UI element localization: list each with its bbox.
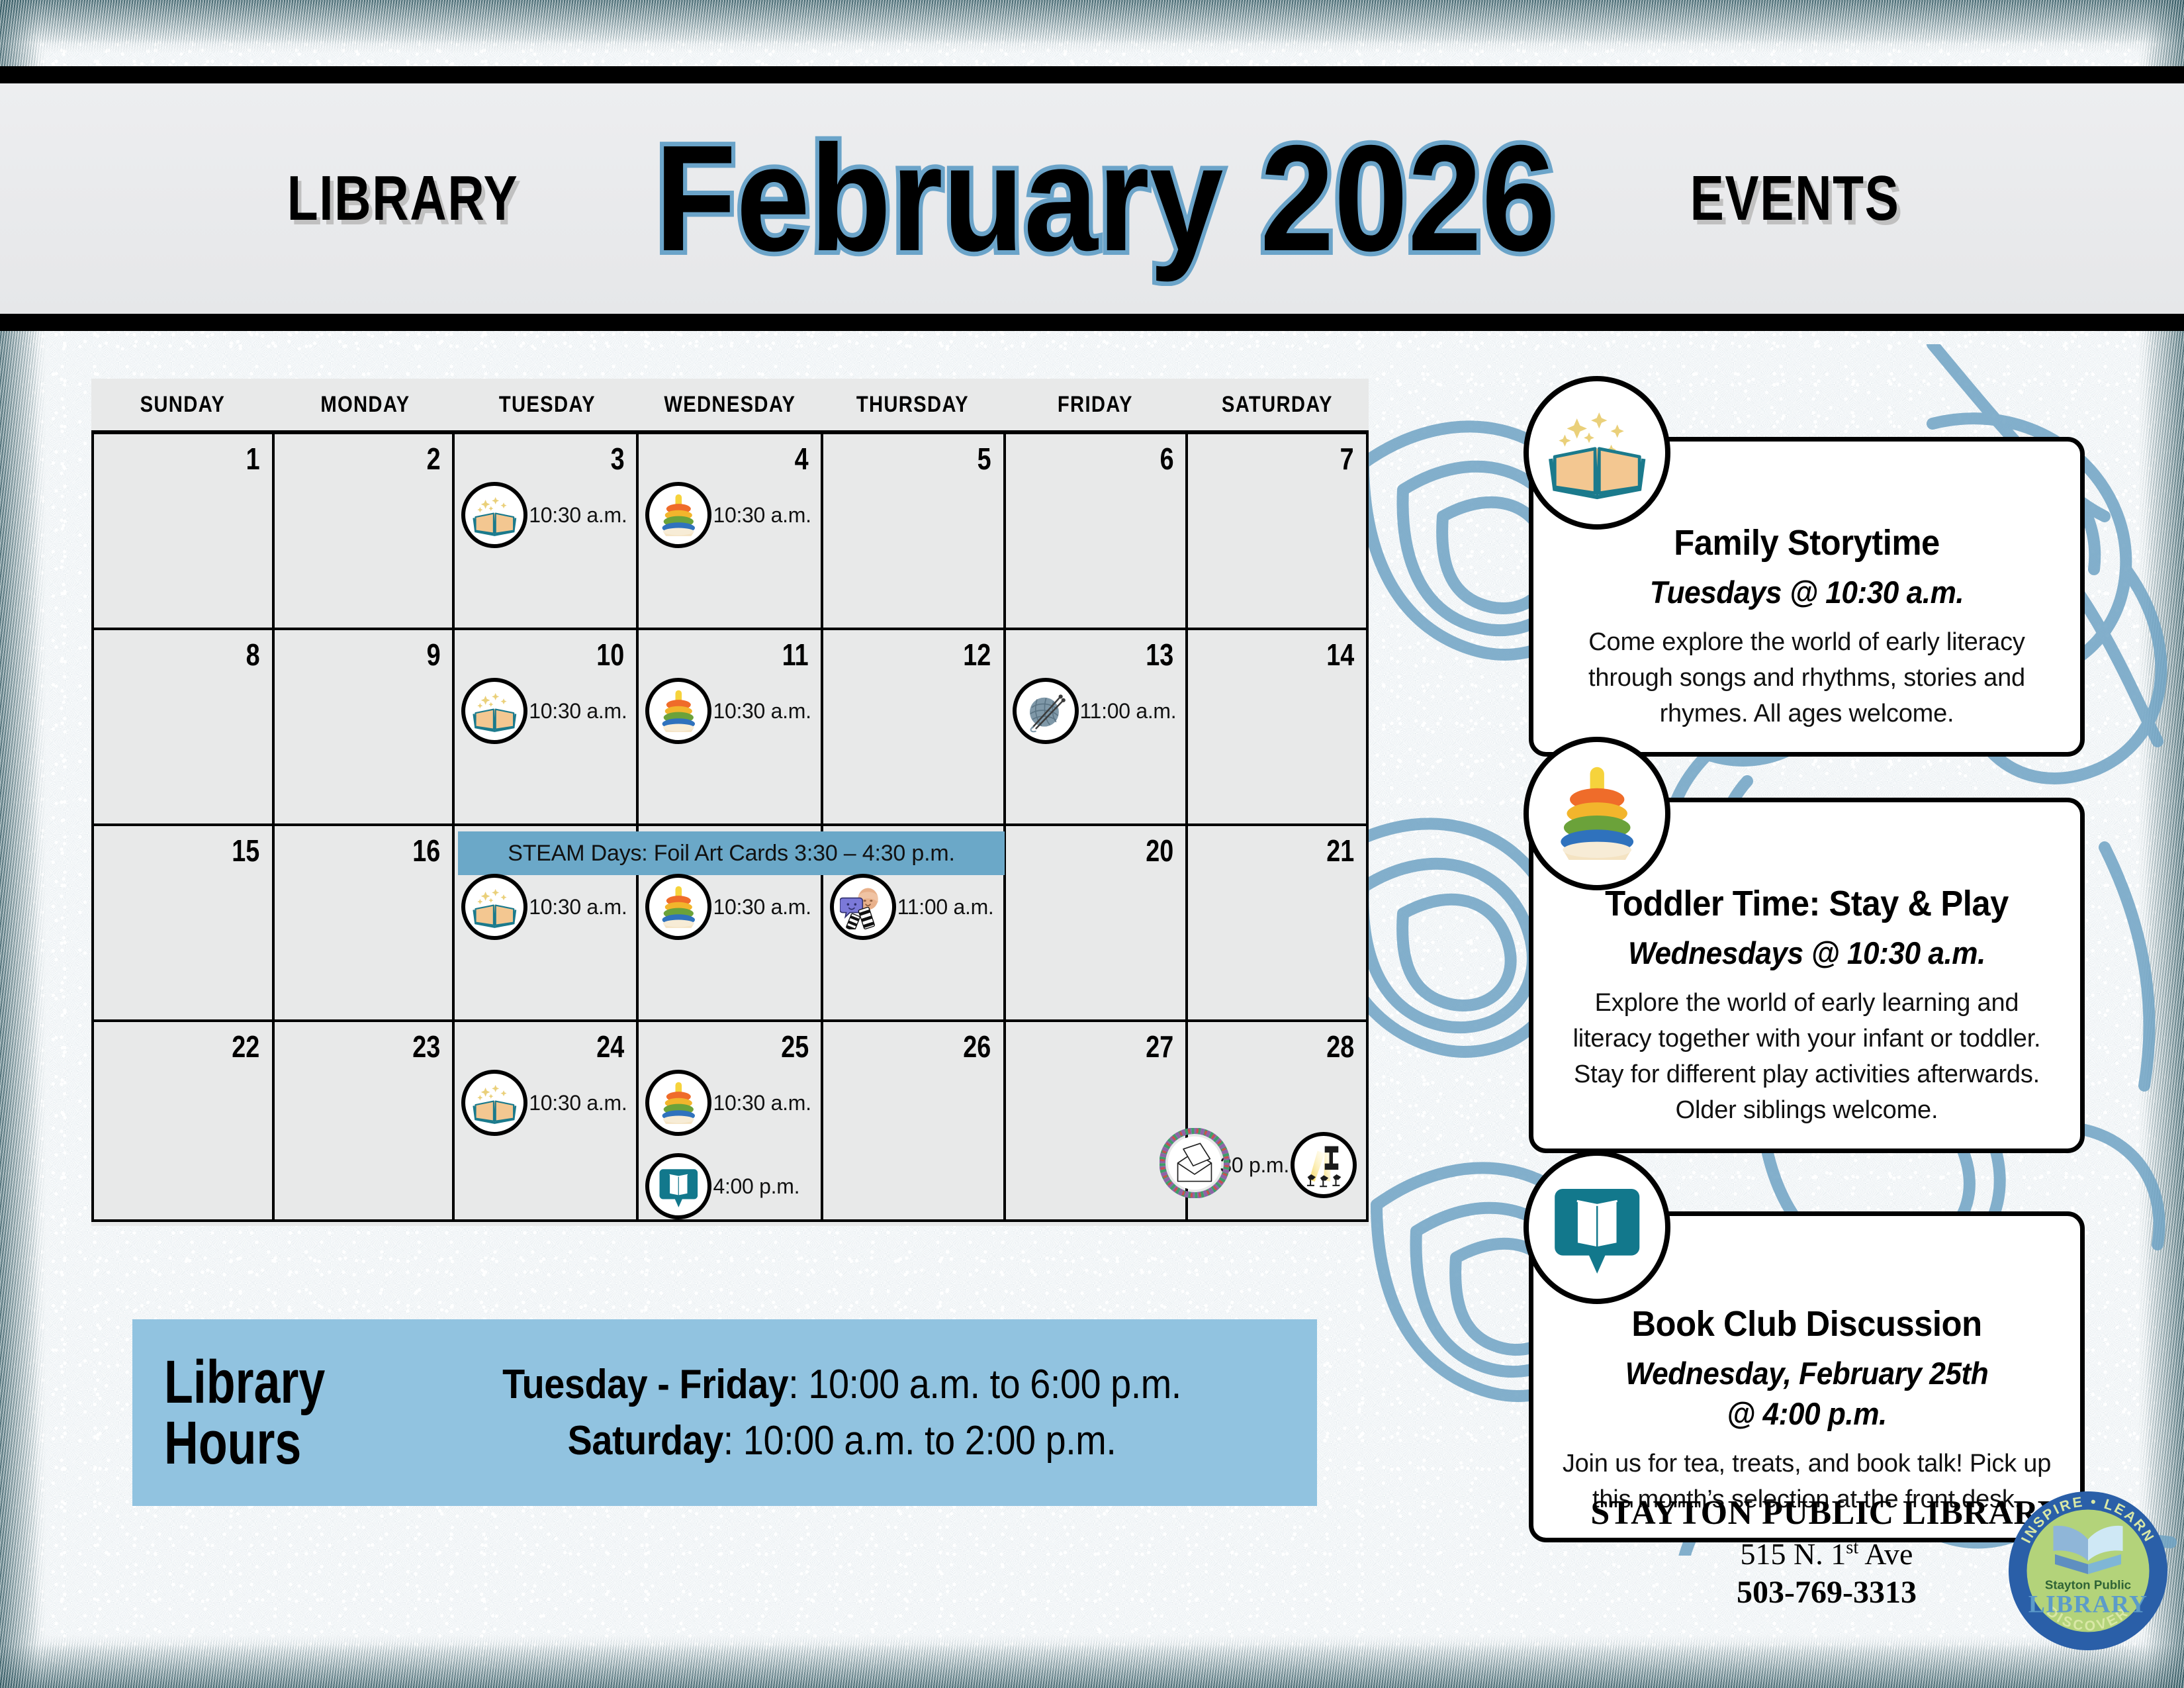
calendar-event[interactable]: 10:30 a.m. [645,1070,811,1136]
calendar-day-cell[interactable]: 20 [1006,826,1189,1022]
calendar-day-cell[interactable]: 25 10:30 a.m. 4:00 p.m. [639,1022,823,1222]
library-hours-title: Library Hours [164,1352,319,1474]
calendar-event[interactable]: 11:00 a.m. [1013,678,1177,744]
calendar-grid: 123 10:30 a.m.4 10:30 a.m.5678910 [91,430,1369,1222]
calendar-day-number: 10 [597,637,625,673]
calendar-day-cell[interactable]: 3 10:30 a.m. [455,434,639,630]
calendar-event[interactable]: 11:00 a.m. [830,874,994,940]
event-card-family-storytime[interactable]: Family Storytime Tuesdays @ 10:30 a.m. C… [1529,437,2085,757]
hours-row-saturday: Saturday: 10:00 a.m. to 2:00 p.m. [438,1417,1246,1464]
calendar-day-cell[interactable]: 7 [1188,434,1369,630]
event-card-toddler-time[interactable]: Toddler Time: Stay & Play Wednesdays @ 1… [1529,798,2085,1153]
calendar-event-time: 11:00 a.m. [897,895,994,919]
event-card-book-club[interactable]: Book Club Discussion Wednesday, February… [1529,1211,2085,1542]
stacking-rings-toy-icon [645,1070,711,1136]
calendar-event-time: 10:30 a.m. [529,699,627,724]
calendar-day-number: 4 [795,441,809,477]
footer: STAYTON PUBLIC LIBRARY 515 N. 1st Ave 50… [1496,1493,2158,1611]
calendar-day-number: 21 [1326,833,1354,868]
open-book-sparkle-icon [461,678,527,744]
calendar-day-number: 8 [246,637,260,673]
weekday-header-monday: MONDAY [287,379,443,430]
open-book-sparkle-icon [1524,376,1670,530]
book-club-pin-icon [645,1153,711,1219]
library-hours-title-line2: Hours [164,1413,319,1474]
calendar-day-number: 3 [610,441,624,477]
event-card-title: Toddler Time: Stay & Play [1571,883,2043,924]
calendar-day-number: 12 [964,637,991,673]
calendar-day-number: 24 [597,1029,625,1064]
library-hours-title-line1: Library [164,1352,319,1413]
calendar-event[interactable]: 10:30 a.m. [461,1070,627,1136]
stayton-public-library-logo: INSPIRE • LEARN DISCOVER Stayton Public … [2005,1488,2171,1654]
calendar-event[interactable]: 10:30 a.m. [461,678,627,744]
footer-address-ordinal: st [1846,1538,1858,1558]
calendar-event[interactable]: 4:00 p.m. [645,1153,811,1219]
steam-days-banner-label: STEAM Days: Foil Art Cards 3:30 – 4:30 p… [508,841,954,867]
hours-row-weekday-days: Tuesday - Friday [502,1362,788,1407]
footer-address-tail: Ave [1858,1537,1913,1571]
weekday-header-friday: FRIDAY [1017,379,1173,430]
calendar-day-number: 1 [246,441,260,477]
calendar-event[interactable]: 10:30 a.m. [645,482,811,548]
calendar-event-time: 4:00 p.m. [713,1174,799,1199]
calendar-day-number: 15 [232,833,260,868]
hours-row-weekday-times: : 10:00 a.m. to 6:00 p.m. [788,1362,1181,1407]
header-right-label: EVENTS [1690,162,1899,235]
open-book-sparkle-icon [461,482,527,548]
conversation-coffee-icon [830,874,896,940]
stage-spotlight-icon [1291,1132,1357,1198]
calendar-event[interactable]: 10:30 a.m. [645,874,811,940]
stacking-rings-toy-icon [645,482,711,548]
calendar-day-number: 22 [232,1029,260,1064]
calendar-day-cell[interactable]: 23 [275,1022,455,1222]
calendar-day-cell[interactable]: 11 10:30 a.m. [639,630,823,826]
calendar-event-time: 10:30 a.m. [529,503,627,528]
calendar-event-time: 10:30 a.m. [529,1091,627,1115]
calendar-day-number: 7 [1340,441,1354,477]
library-hours-rows: Tuesday - Friday: 10:00 a.m. to 6:00 p.m… [393,1361,1291,1464]
calendar-day-cell[interactable]: 6 [1006,434,1189,630]
calendar-day-cell[interactable]: 14 [1188,630,1369,826]
calendar-day-cell[interactable]: 22 [94,1022,275,1222]
calendar-event[interactable]: 10:30 a.m. [645,678,811,744]
book-club-pin-icon [1524,1150,1670,1304]
calendar-event-time: 11:00 a.m. [1080,699,1177,724]
calendar-event[interactable]: 10:30 a.m. [461,874,627,940]
stacking-rings-toy-icon [645,678,711,744]
calendar-day-cell[interactable]: 5 [823,434,1006,630]
calendar-event-time: 10:30 a.m. [529,895,627,919]
weekday-header-sunday: SUNDAY [104,379,261,430]
calendar-day-number: 23 [412,1029,440,1064]
calendar-day-number: 6 [1160,441,1173,477]
calendar-day-number: 20 [1146,833,1173,868]
event-card-when-2: @ 4:00 p.m. [1571,1395,2043,1432]
weekday-header-thursday: THURSDAY [834,379,991,430]
calendar-panel: SUNDAY MONDAY TUESDAY WEDNESDAY THURSDAY… [91,379,1369,1226]
calendar-day-number: 28 [1326,1029,1354,1064]
hours-row-saturday-times: : 10:00 a.m. to 2:00 p.m. [723,1418,1116,1464]
event-card-title: Book Club Discussion [1571,1303,2043,1344]
calendar-day-cell[interactable]: 8 [94,630,275,826]
page-title: February 2026 [655,126,1556,271]
footer-address-main: 515 N. 1 [1741,1537,1846,1571]
calendar-day-cell[interactable]: 4 10:30 a.m. [639,434,823,630]
calendar-day-number: 25 [781,1029,809,1064]
logo-name-line2: LIBRARY [2028,1591,2148,1618]
stacking-rings-toy-icon [1524,737,1670,890]
calendar-event-time: 10:30 a.m. [713,699,811,724]
calendar-day-number: 2 [426,441,440,477]
event-card-when: Tuesdays @ 10:30 a.m. [1571,574,2043,610]
steam-days-banner[interactable]: STEAM Days: Foil Art Cards 3:30 – 4:30 p… [458,831,1004,875]
header-left-label: LIBRARY [287,162,519,235]
weekday-header-saturday: SATURDAY [1199,379,1356,430]
weekday-header-wednesday: WEDNESDAY [651,379,808,430]
calendar-day-cell[interactable]: 12 [823,630,1006,826]
calendar-day-cell[interactable]: 10 10:30 a.m. [455,630,639,826]
calendar-day-cell[interactable]: 26 [823,1022,1006,1222]
foil-art-envelope-icon [1160,1128,1230,1198]
calendar-day-cell[interactable]: 16 [275,826,455,1022]
calendar-day-number: 5 [978,441,991,477]
event-card-when: Wednesday, February 25th [1571,1355,2043,1391]
calendar-day-number: 9 [426,637,440,673]
calendar-event[interactable]: 10:30 a.m. [461,482,627,548]
calendar-day-number: 13 [1146,637,1173,673]
open-book-sparkle-icon [461,1070,527,1136]
calendar-weekday-header-row: SUNDAY MONDAY TUESDAY WEDNESDAY THURSDAY… [91,379,1369,430]
event-card-description: Explore the world of early learning and … [1556,986,2058,1129]
event-card-title: Family Storytime [1571,522,2043,563]
calendar-day-cell[interactable]: 21 [1188,826,1369,1022]
calendar-event-time: 10:30 a.m. [713,1091,811,1115]
calendar-day-number: 26 [964,1029,991,1064]
weekday-header-tuesday: TUESDAY [469,379,626,430]
calendar-day-cell[interactable]: 2 [275,434,455,630]
calendar-day-cell[interactable]: 15 [94,826,275,1022]
event-card-description: Come explore the world of early literacy… [1556,625,2058,732]
calendar-day-cell[interactable]: 13 11:00 a.m. [1006,630,1189,826]
yarn-knitting-needles-icon [1013,678,1079,744]
calendar-day-number: 16 [412,833,440,868]
open-book-sparkle-icon [461,874,527,940]
hours-row-weekday: Tuesday - Friday: 10:00 a.m. to 6:00 p.m… [438,1361,1246,1408]
stacking-rings-toy-icon [645,874,711,940]
logo-name-line1: Stayton Public [2045,1578,2131,1592]
page-header: LIBRARY February 2026 EVENTS [0,66,2184,331]
calendar-day-number: 11 [782,637,809,673]
calendar-day-number: 27 [1146,1029,1173,1064]
calendar-event-time: 10:30 a.m. [713,895,811,919]
hours-row-saturday-days: Saturday [568,1418,723,1464]
event-card-when: Wednesdays @ 10:30 a.m. [1571,935,2043,971]
calendar-day-cell[interactable]: 1 [94,434,275,630]
calendar-day-cell[interactable]: 9 [275,630,455,826]
calendar-event-time: 10:30 a.m. [713,503,811,528]
calendar-day-number: 14 [1326,637,1354,673]
calendar-day-cell[interactable]: 24 10:30 a.m. [455,1022,639,1222]
library-hours-box: Library Hours Tuesday - Friday: 10:00 a.… [132,1319,1317,1506]
